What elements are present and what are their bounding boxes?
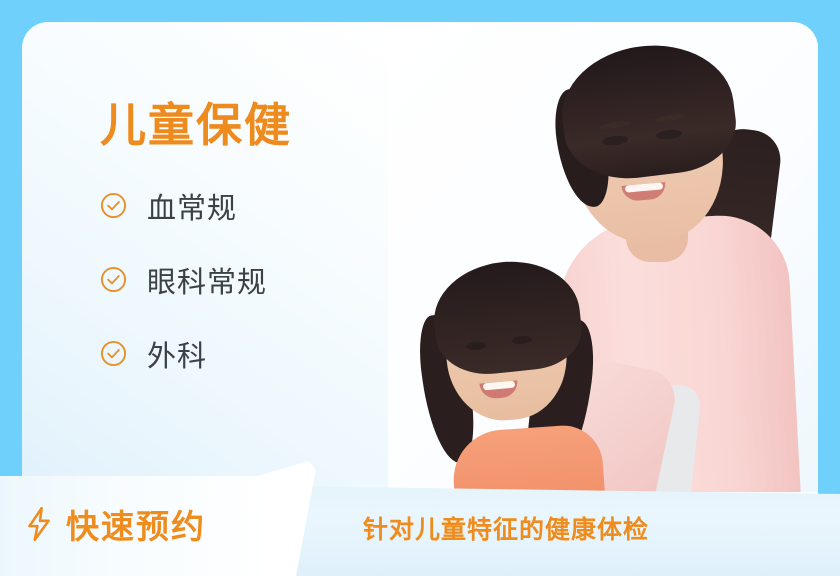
child-orange-top xyxy=(450,423,607,492)
promo-banner: 儿童保健 血常规 xyxy=(0,0,840,576)
list-item[interactable]: 外科 xyxy=(100,333,460,375)
circle-check-icon xyxy=(100,340,127,367)
circle-check-icon xyxy=(100,266,127,293)
quick-booking-inner: 快速预约 xyxy=(24,500,206,548)
quick-booking-label: 快速预约 xyxy=(66,500,206,548)
list-item[interactable]: 眼科常规 xyxy=(100,259,460,301)
list-item[interactable]: 血常规 xyxy=(100,185,460,227)
tagline: 针对儿童特征的健康体检 xyxy=(363,510,649,546)
card-content: 儿童保健 血常规 xyxy=(100,100,460,407)
lightning-bolt-icon xyxy=(24,506,54,542)
circle-check-icon xyxy=(100,192,127,219)
feature-list: 血常规 眼科常规 xyxy=(100,185,460,375)
feature-label: 血常规 xyxy=(147,185,237,227)
feature-label: 外科 xyxy=(147,333,207,375)
feature-label: 眼科常规 xyxy=(147,259,267,301)
page-title: 儿童保健 xyxy=(100,100,460,151)
